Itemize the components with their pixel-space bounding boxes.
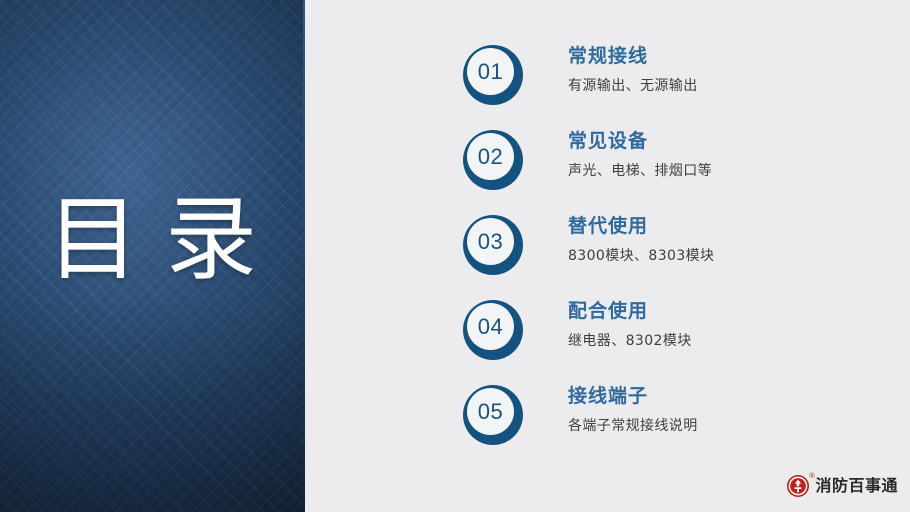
registered-mark: ® bbox=[809, 473, 814, 480]
toc-subtitle: 声光、电梯、排烟口等 bbox=[568, 161, 893, 181]
fire-safety-logo-icon: ® bbox=[786, 474, 810, 498]
toc-heading: 替代使用 bbox=[568, 213, 893, 239]
badge-number: 03 bbox=[467, 218, 514, 265]
toc-subtitle: 各端子常规接线说明 bbox=[568, 416, 893, 436]
toc-text-group: 常见设备 声光、电梯、排烟口等 bbox=[568, 128, 893, 181]
toc-list: 01 常规接线 有源输出、无源输出 02 常见设备 声光、电梯、排烟口等 bbox=[305, 0, 910, 512]
number-badge-icon: 02 bbox=[463, 130, 523, 190]
toc-text-group: 配合使用 继电器、8302模块 bbox=[568, 298, 893, 351]
badge-number: 04 bbox=[467, 303, 514, 350]
toc-item-2[interactable]: 02 常见设备 声光、电梯、排烟口等 bbox=[463, 128, 893, 213]
toc-text-group: 常规接线 有源输出、无源输出 bbox=[568, 43, 893, 96]
toc-text-group: 替代使用 8300模块、8303模块 bbox=[568, 213, 893, 266]
badge-number: 05 bbox=[467, 388, 514, 435]
page-title: 目录 bbox=[0, 186, 304, 294]
toc-text-group: 接线端子 各端子常规接线说明 bbox=[568, 383, 893, 436]
toc-item-3[interactable]: 03 替代使用 8300模块、8303模块 bbox=[463, 213, 893, 298]
toc-heading: 常规接线 bbox=[568, 43, 893, 69]
toc-item-5[interactable]: 05 接线端子 各端子常规接线说明 bbox=[463, 383, 893, 468]
number-badge-icon: 04 bbox=[463, 300, 523, 360]
toc-subtitle: 继电器、8302模块 bbox=[568, 331, 893, 351]
toc-heading: 配合使用 bbox=[568, 298, 893, 324]
toc-subtitle: 有源输出、无源输出 bbox=[568, 76, 893, 96]
number-badge-icon: 03 bbox=[463, 215, 523, 275]
toc-item-4[interactable]: 04 配合使用 继电器、8302模块 bbox=[463, 298, 893, 383]
brand-logo: ® 消防百事通 bbox=[786, 474, 898, 498]
badge-number: 02 bbox=[467, 133, 514, 180]
brand-name: 消防百事通 bbox=[815, 477, 898, 495]
toc-item-1[interactable]: 01 常规接线 有源输出、无源输出 bbox=[463, 43, 893, 128]
badge-number: 01 bbox=[467, 48, 514, 95]
content-panel: 01 常规接线 有源输出、无源输出 02 常见设备 声光、电梯、排烟口等 bbox=[305, 0, 910, 512]
toc-heading: 常见设备 bbox=[568, 128, 893, 154]
number-badge-icon: 05 bbox=[463, 385, 523, 445]
slide-root: 目录 01 常规接线 有源输出、无源输出 02 bbox=[0, 0, 910, 512]
number-badge-icon: 01 bbox=[463, 45, 523, 105]
toc-heading: 接线端子 bbox=[568, 383, 893, 409]
toc-subtitle: 8300模块、8303模块 bbox=[568, 246, 893, 266]
